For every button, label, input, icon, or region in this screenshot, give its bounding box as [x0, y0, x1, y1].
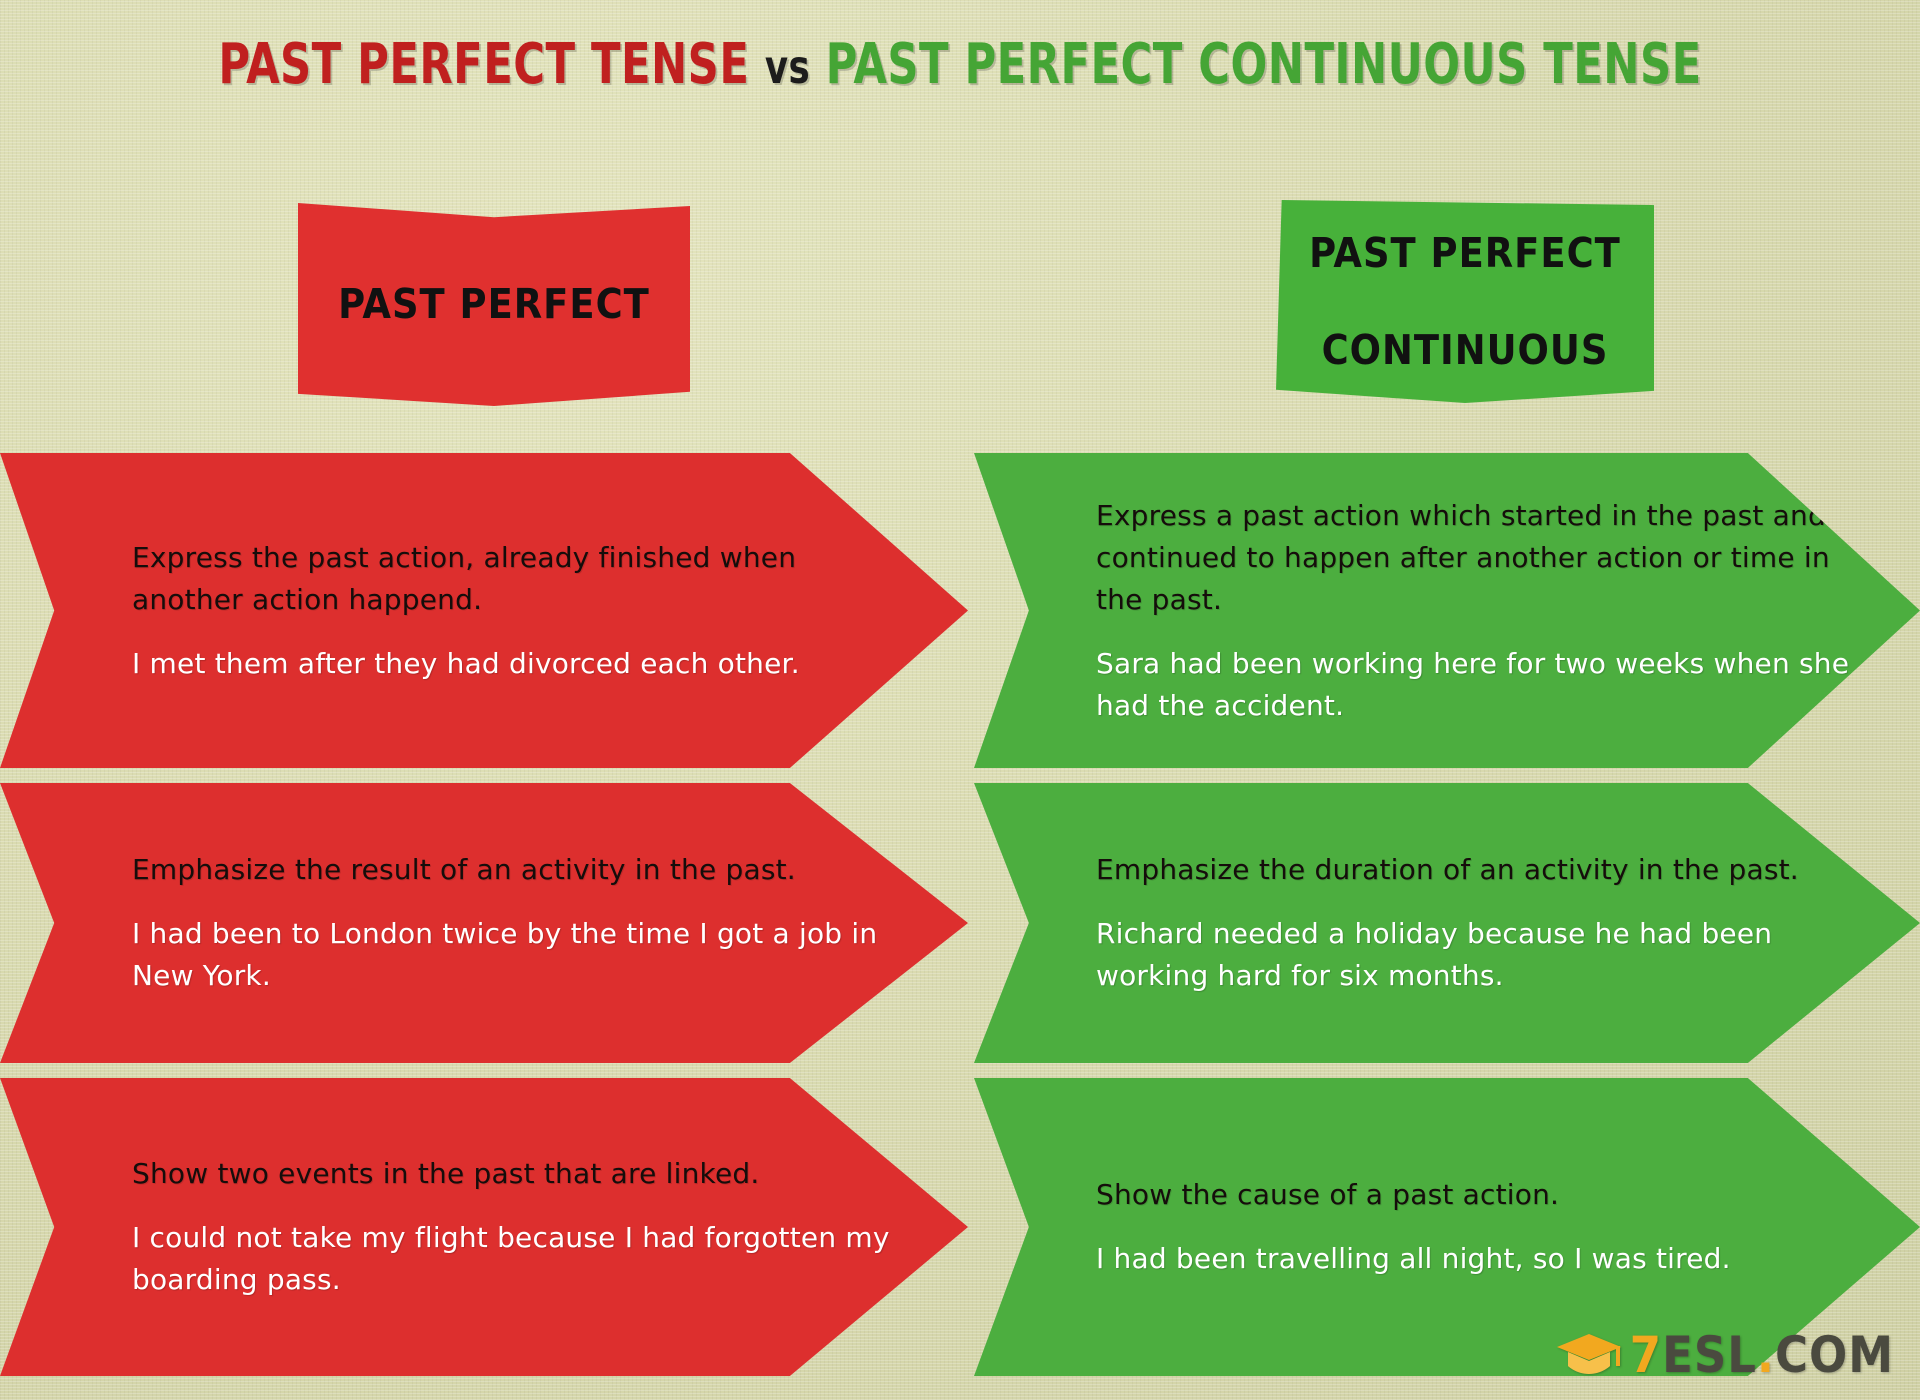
past-perfect-arrow-1: Express the past action, already finishe… — [0, 453, 968, 768]
page-title: PAST PERFECT TENSE vs PAST PERFECT CONTI… — [134, 32, 1785, 97]
past-perfect-arrow-3: Show two events in the past that are lin… — [0, 1078, 968, 1376]
graduation-cap-icon — [1556, 1332, 1622, 1378]
banner-past-perfect: PAST PERFECT — [298, 203, 690, 406]
past-perfect-continuous-example-3: I had been travelling all night, so I wa… — [1096, 1238, 1860, 1280]
past-perfect-example-2: I had been to London twice by the time I… — [132, 913, 904, 997]
logo-text: 7ESL.COM — [1630, 1326, 1894, 1384]
past-perfect-description-3: Show two events in the past that are lin… — [132, 1153, 904, 1195]
site-logo[interactable]: 7ESL.COM — [1556, 1326, 1894, 1384]
past-perfect-description-2: Emphasize the result of an activity in t… — [132, 849, 904, 891]
past-perfect-arrow-2: Emphasize the result of an activity in t… — [0, 783, 968, 1063]
logo-name: ESL — [1662, 1326, 1757, 1384]
past-perfect-example-1: I met them after they had divorced each … — [132, 643, 904, 685]
title-separator: vs — [765, 40, 810, 94]
title-right-part: PAST PERFECT CONTINUOUS TENSE — [826, 32, 1702, 97]
past-perfect-continuous-arrow-1: Express a past action which started in t… — [974, 453, 1920, 768]
past-perfect-continuous-arrow-2: Emphasize the duration of an activity in… — [974, 783, 1920, 1063]
past-perfect-continuous-example-2: Richard needed a holiday because he had … — [1096, 913, 1860, 997]
past-perfect-continuous-example-1: Sara had been working here for two weeks… — [1096, 643, 1860, 727]
comparison-row-1: Express the past action, already finishe… — [0, 453, 1920, 768]
title-left-part: PAST PERFECT TENSE — [218, 32, 749, 97]
past-perfect-continuous-description-1: Express a past action which started in t… — [1096, 495, 1860, 621]
banner-past-perfect-label: PAST PERFECT — [324, 280, 664, 328]
banner-continuous-line-1: PAST PERFECT — [1295, 229, 1635, 277]
comparison-row-2: Emphasize the result of an activity in t… — [0, 783, 1920, 1063]
logo-seven: 7 — [1630, 1326, 1662, 1384]
logo-tld: COM — [1775, 1326, 1894, 1384]
past-perfect-example-3: I could not take my flight because I had… — [132, 1217, 904, 1301]
past-perfect-continuous-description-2: Emphasize the duration of an activity in… — [1096, 849, 1860, 891]
banner-past-perfect-continuous: PAST PERFECT CONTINUOUS — [1276, 200, 1654, 403]
banner-past-perfect-continuous-label: PAST PERFECT CONTINUOUS — [1281, 229, 1649, 374]
banner-continuous-line-2: CONTINUOUS — [1295, 326, 1635, 374]
past-perfect-continuous-description-3: Show the cause of a past action. — [1096, 1174, 1860, 1216]
past-perfect-description-1: Express the past action, already finishe… — [132, 537, 904, 621]
logo-dot: . — [1757, 1326, 1775, 1384]
